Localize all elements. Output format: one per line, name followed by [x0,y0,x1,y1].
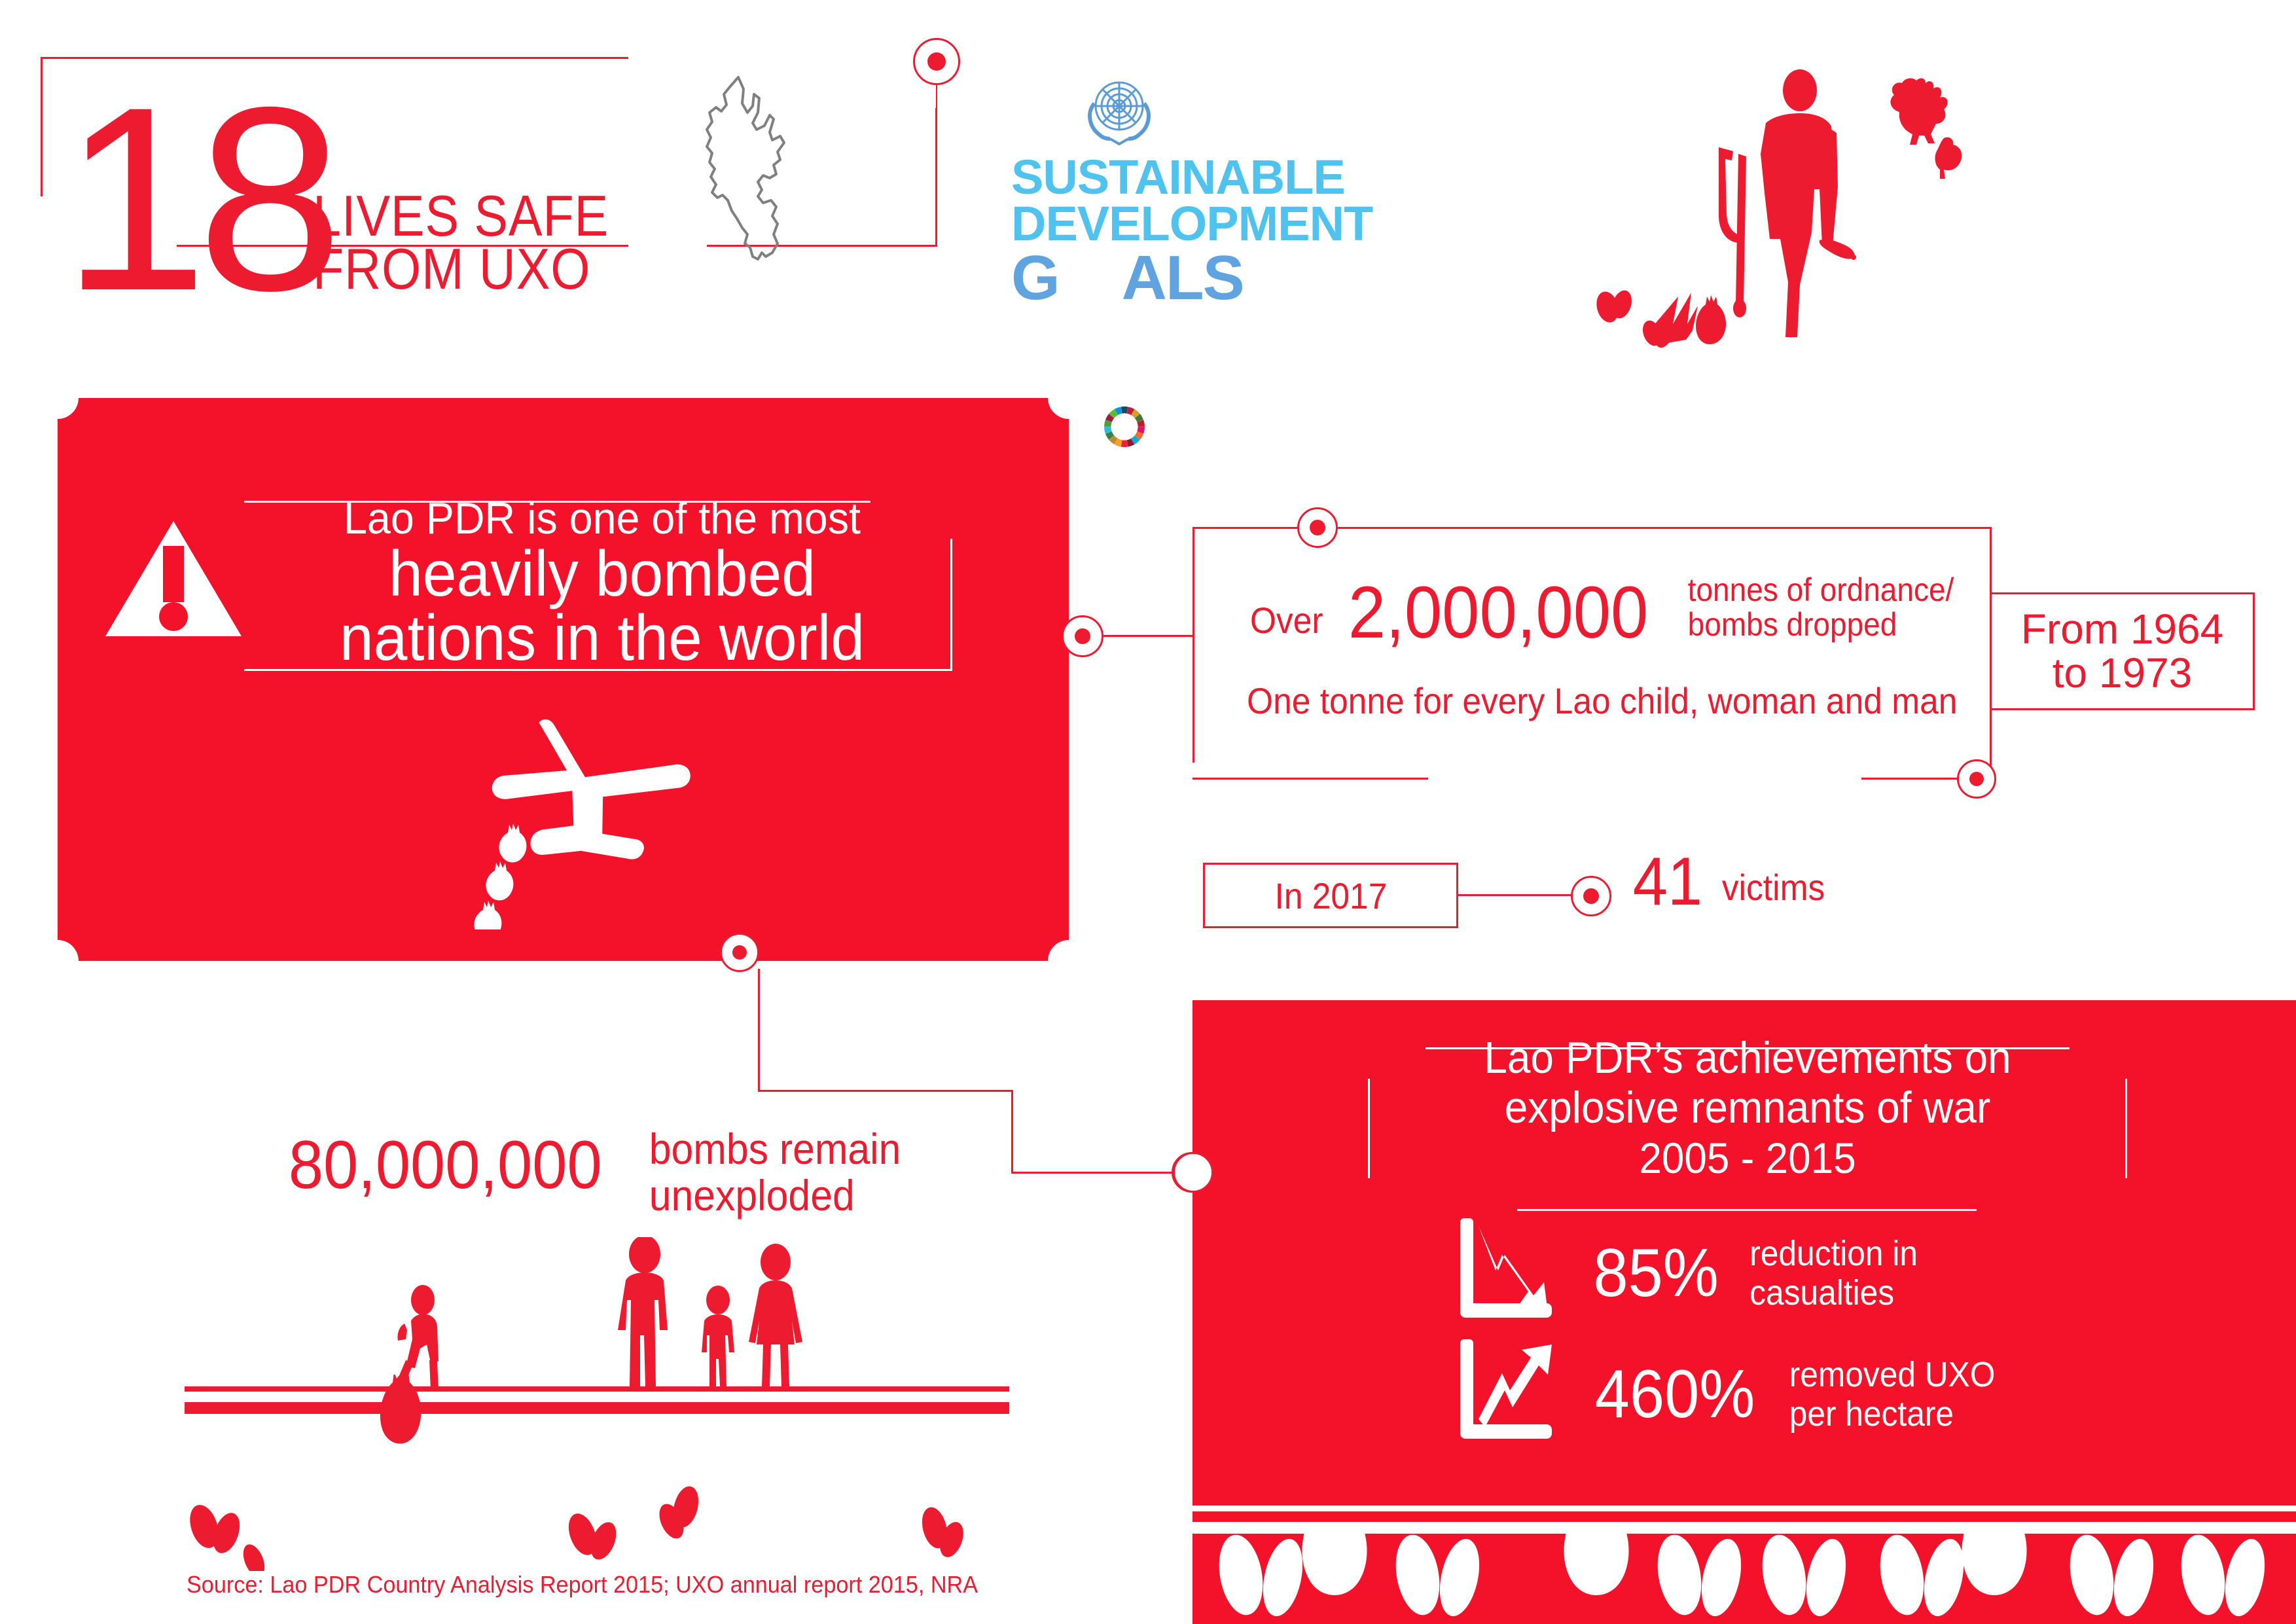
achievements-title-line2: explosive remnants of war [1391,1083,2104,1132]
ordnance-unit-line1: tonnes of ordnance/ [1687,573,1954,607]
achievements-title: Lao PDR’s achievements on explosive remn… [1368,1033,2127,1185]
achievement-label-2-line1: removed UXO [1789,1355,1996,1394]
ordnance-amount-row: Over 2,000,000 tonnes of ordnance/ bombs… [1247,573,2045,649]
achievement-stat-removal: 460% removed UXO per hectare [1456,1335,2004,1453]
connector-dot [1310,520,1325,535]
bomber-plane-icon [445,707,726,933]
connector-node-victims [1571,876,1611,916]
banner-heading-line1: Lao PDR is one of the most [273,496,932,541]
un-emblem-icon [1011,77,1227,149]
achievement-label-1-line1: reduction in [1749,1234,1918,1273]
unexploded-label-line2: unexploded [649,1172,901,1219]
ordnance-subtext: One tonne for every Lao child, woman and… [1247,679,1981,722]
connector-line-banner-to-ordnance [1103,635,1193,637]
sdg-line3: GALS [1011,247,1312,310]
achievements-title-line1: Lao PDR’s achievements on [1391,1033,2104,1083]
headline-number: 18 [62,92,332,306]
unexploded-label-line1: bombs remain [649,1126,901,1172]
achievement-label-2-line2: per hectare [1789,1394,1996,1434]
buried-bombs-row [1193,1525,2296,1624]
achievements-title-line3: 2005 - 2015 [1391,1132,2104,1184]
scene-farmer-with-crutch [1558,49,1964,380]
connector-node-header [913,38,960,85]
connector-line-ordnance-left [1193,527,1194,763]
banner-notch-bl [37,940,79,982]
connector-node-achievements-edge [1173,1152,1213,1193]
bombing-period-box: From 1964 to 1973 [1990,592,2255,710]
sdg-wordmark: SUSTAINABLE DEVELOPMENT GALS [1011,154,1312,310]
achievements-ground-line-top [1193,1506,2296,1511]
chart-up-arrow-icon [1456,1335,1558,1453]
sdg-line3-suffix: ALS [1122,243,1244,313]
connector-line-2017-to-victims [1458,894,1575,896]
banner-heading-line3: nations in the world [273,605,932,670]
ordnance-stats: Over 2,000,000 tonnes of ordnance/ bombs… [1247,573,2045,722]
ordnance-unit: tonnes of ordnance/ bombs dropped [1687,573,1954,641]
bombing-period-line1: From 1964 [2021,607,2223,651]
connector-line-80m-to-node [1011,1172,1174,1174]
year-2017-box: In 2017 [1203,863,1458,928]
achievement-stat-reduction: 85% reduction in casualties [1456,1214,1925,1332]
connector-line-80m-vertical-b [1011,1090,1013,1173]
infographic-page: 18 LIVES SAFE FROM UXO [0,0,2296,1624]
sdg-line3-prefix: G [1011,243,1059,313]
victims-count: 41 [1633,851,1702,914]
connector-line-80m-vertical-a [758,969,760,1090]
banner-heading: Lao PDR is one of the most heavily bombe… [255,496,949,670]
connector-line-ordnance-top-left [1193,527,1297,529]
achievement-percent-1: 85% [1593,1239,1719,1307]
connector-dot [732,945,747,960]
sdg-line2: DEVELOPMENT [1011,200,1312,247]
ordnance-amount: 2,000,000 [1348,576,1648,649]
family-figures-icon [609,1237,825,1398]
warning-triangle-icon [101,517,245,645]
connector-line-80m-horizontal [758,1090,1013,1092]
headline-title-line1: LIVES SAFE [313,190,609,243]
achievement-label-1: reduction in casualties [1749,1234,1918,1313]
connector-line-ordnance-top-right [1338,527,1990,529]
chart-down-arrow-icon [1456,1214,1558,1332]
ordnance-unit-line2: bombs dropped [1687,607,1954,642]
unexploded-stat: 80,000,000 bombs remain unexploded [275,1131,912,1219]
unexploded-label: bombs remain unexploded [649,1126,901,1219]
achievement-label-2: removed UXO per hectare [1789,1355,1996,1434]
bombing-period: From 1964 to 1973 [2021,607,2223,695]
connector-node-banner-bottom [720,933,759,972]
year-2017-label: In 2017 [1274,875,1387,917]
connector-node-ordnance-top [1297,507,1338,548]
sdg-line1: SUSTAINABLE [1011,154,1312,200]
connector-dot [1075,628,1090,644]
banner-notch-tr [1048,377,1090,419]
connector-dot [1583,888,1599,904]
buried-bombs-group [185,1375,1016,1574]
source-note: Source: Lao PDR Country Analysis Report … [187,1571,978,1598]
achievement-label-1-line2: casualties [1749,1273,1918,1312]
connector-dot [927,52,946,71]
victims-noun: victims [1722,869,1825,906]
victims-stat: 41 victims [1630,851,1829,914]
achievement-percent-2: 460% [1595,1360,1755,1428]
banner-notch-br [1048,940,1090,982]
banner-notch-tl [37,377,79,419]
banner-heading-line2: heavily bombed [273,541,932,605]
connector-line-ordnance-bottom-left [1193,778,1428,780]
headline-title: LIVES SAFE FROM UXO [313,190,609,296]
sdg-color-wheel-icon [1096,399,1153,455]
head [1783,69,1817,111]
lao-pdr-map-icon [655,72,812,272]
connector-node-banner-right [1062,615,1103,657]
bombing-period-line2: to 1973 [2021,651,2223,695]
connector-node-ordnance-bottom [1957,759,1996,799]
headline-title-line2: FROM UXO [313,243,609,296]
ordnance-over-label: Over [1250,602,1323,639]
sdg-logo: SUSTAINABLE DEVELOPMENT GALS [1011,77,1312,310]
connector-dot [1969,772,1984,786]
unexploded-amount: 80,000,000 [289,1131,602,1199]
